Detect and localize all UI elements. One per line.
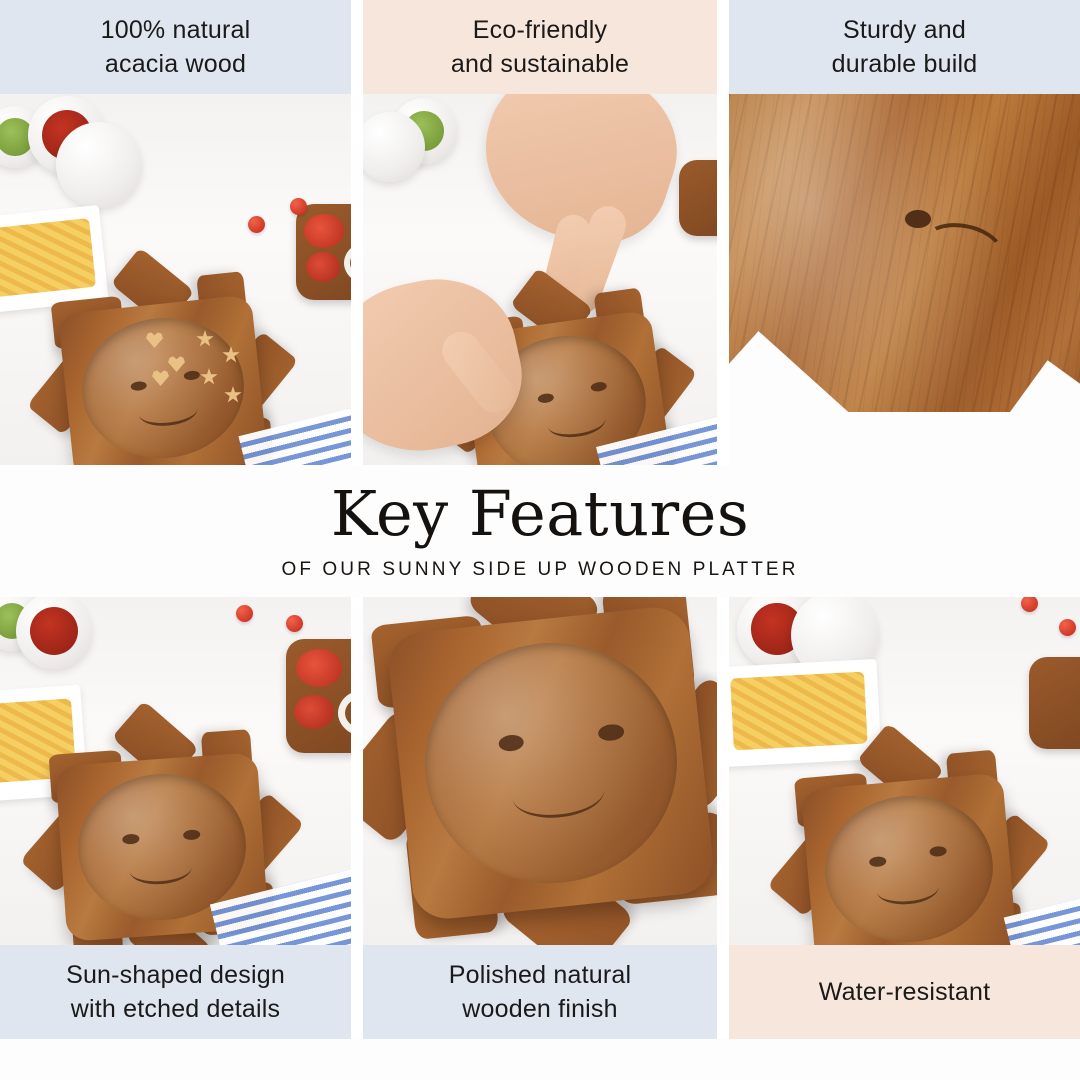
prop-cherry-tomato — [1059, 619, 1076, 636]
caption-line-1: Sun-shaped design — [66, 958, 285, 992]
caption-line-1: Sturdy and — [832, 13, 978, 47]
column-gap — [717, 945, 729, 1039]
onion-ring — [338, 689, 351, 737]
photo-top-right — [729, 94, 1080, 465]
tomato-slice — [294, 695, 334, 729]
bottom-photo-row — [0, 597, 1080, 945]
caption-line-2: acacia wood — [101, 47, 251, 81]
prop-white-bowl — [56, 122, 142, 208]
caption-line-2: and sustainable — [451, 47, 629, 81]
caption-line-2: with etched details — [66, 992, 285, 1026]
prop-veg-bowl — [286, 639, 351, 753]
tomato-slice — [304, 214, 344, 248]
tomato-slice — [296, 649, 342, 687]
caption-polished-finish: Polished natural wooden finish — [363, 945, 717, 1039]
photo-top-mid — [363, 94, 717, 465]
caption-line-2: wooden finish — [449, 992, 632, 1026]
bottom-caption-row: Sun-shaped design with etched details Po… — [0, 945, 1080, 1039]
tomato-slice — [306, 252, 340, 282]
photo-bottom-left — [0, 597, 351, 945]
caption-eco-friendly: Eco-friendly and sustainable — [363, 0, 717, 94]
onion-ring — [344, 242, 351, 284]
column-gap — [717, 0, 729, 94]
page-subtitle: OF OUR SUNNY SIDE UP WOODEN PLATTER — [281, 559, 798, 581]
column-gap — [351, 94, 363, 465]
prop-cherry-tomato — [290, 198, 307, 215]
page-title: Key Features — [331, 481, 749, 547]
photo-top-left — [0, 94, 351, 465]
prop-veg-bowl — [679, 160, 717, 236]
etched-eye — [905, 210, 931, 228]
column-gap — [351, 597, 363, 945]
top-photo-row — [0, 94, 1080, 465]
caption-natural-acacia: 100% natural acacia wood — [0, 0, 351, 94]
caption-water-resistant: Water-resistant — [729, 945, 1080, 1039]
caption-sun-shaped-design: Sun-shaped design with etched details — [0, 945, 351, 1039]
photo-bottom-right — [729, 597, 1080, 945]
caption-sturdy-durable: Sturdy and durable build — [729, 0, 1080, 94]
caption-line-1: Polished natural — [449, 958, 632, 992]
title-band: Key Features OF OUR SUNNY SIDE UP WOODEN… — [0, 465, 1080, 597]
prop-veg-bowl — [296, 204, 351, 300]
infographic-page: 100% natural acacia wood Eco-friendly an… — [0, 0, 1080, 1080]
column-gap — [351, 0, 363, 94]
prop-cherry-tomato — [248, 216, 265, 233]
prop-cherry-tomato — [286, 615, 303, 632]
photo-bottom-mid — [363, 597, 717, 945]
caption-line-1: 100% natural — [101, 13, 251, 47]
caption-line-1: Water-resistant — [819, 975, 991, 1009]
column-gap — [717, 94, 729, 465]
prop-cherry-tomato — [236, 605, 253, 622]
wooden-platter — [363, 597, 717, 945]
wooden-platter — [759, 735, 1059, 945]
caption-line-2: durable build — [832, 47, 978, 81]
column-gap — [717, 597, 729, 945]
top-caption-row: 100% natural acacia wood Eco-friendly an… — [0, 0, 1080, 94]
caption-line-1: Eco-friendly — [451, 13, 629, 47]
column-gap — [351, 945, 363, 1039]
